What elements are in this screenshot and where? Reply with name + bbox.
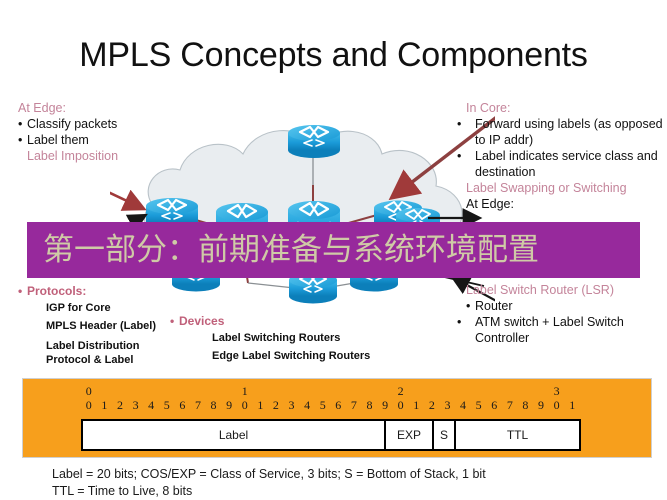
bit-index: 4 [455, 398, 471, 412]
bit-index: 5 [159, 398, 175, 412]
bit-index: 1 [97, 398, 113, 412]
bit-index: 7 [346, 398, 362, 412]
bullet-icon: • [18, 132, 27, 148]
bit-decade [97, 384, 113, 398]
left-edge-notes: At Edge: •Classify packets •Label them L… [18, 100, 198, 164]
field-exp: EXP [386, 421, 434, 449]
bullet-icon: • [466, 116, 475, 132]
bit-decade: 1 [237, 384, 253, 398]
bit-index: 9 [221, 398, 237, 412]
in-core-heading: In Core: [466, 100, 666, 116]
protocols-heading: •Protocols: [18, 283, 208, 299]
section-banner-text: 第一部分：前期准备与系统环境配置 [43, 228, 640, 272]
bit-decade [268, 384, 284, 398]
bit-decade [533, 384, 549, 398]
list-item: •Label them [18, 132, 198, 148]
bit-index: 9 [533, 398, 549, 412]
bit-index: 5 [315, 398, 331, 412]
bit-decade [175, 384, 191, 398]
lsr-notes: Label Switch Router (LSR) •Router •ATM s… [466, 282, 666, 346]
bit-decade [128, 384, 144, 398]
bit-index: 5 [471, 398, 487, 412]
list-item: •Label indicates service class and desti… [466, 148, 666, 180]
in-core-notes: In Core: •Forward using labels (as oppos… [466, 100, 666, 212]
caption-line-2: TTL = Time to Live, 8 bits [52, 483, 652, 500]
bullet-icon: • [18, 116, 27, 132]
bit-decade [206, 384, 222, 398]
bullet-icon: • [466, 148, 475, 164]
bit-decade [315, 384, 331, 398]
bit-ruler: 0123 01234567890123456789012345678901 [81, 384, 581, 412]
bit-decade [362, 384, 378, 398]
at-edge-subheading: At Edge: [466, 196, 666, 212]
list-item: •Forward using labels (as opposed to IP … [466, 116, 666, 148]
bit-decade [112, 384, 128, 398]
bit-index: 2 [112, 398, 128, 412]
bullet-icon: • [466, 298, 475, 314]
bit-index: 0 [393, 398, 409, 412]
label-swapping-note: Label Swapping or Switching [466, 180, 666, 196]
bit-decade [190, 384, 206, 398]
bit-decade [346, 384, 362, 398]
caption-line-1: Label = 20 bits; COS/EXP = Class of Serv… [52, 466, 652, 483]
at-edge-heading: At Edge: [18, 100, 198, 116]
bullet-icon: • [466, 314, 475, 330]
header-caption: Label = 20 bits; COS/EXP = Class of Serv… [52, 466, 652, 500]
bit-index: 1 [564, 398, 580, 412]
bit-index: 3 [128, 398, 144, 412]
arrow-icon [110, 192, 142, 208]
bit-index: 4 [299, 398, 315, 412]
label-imposition-note: Label Imposition [18, 148, 198, 164]
bit-index: 3 [440, 398, 456, 412]
bit-index: 4 [143, 398, 159, 412]
bit-decade [440, 384, 456, 398]
bit-index: 1 [408, 398, 424, 412]
bit-index: 0 [237, 398, 253, 412]
bit-decade [471, 384, 487, 398]
bullet-icon: • [18, 283, 27, 299]
bit-decade [159, 384, 175, 398]
bit-ruler-ones: 01234567890123456789012345678901 [81, 398, 581, 412]
list-item: •ATM switch + Label Switch Controller [466, 314, 666, 346]
bit-index: 7 [502, 398, 518, 412]
field-ttl: TTL [456, 421, 579, 449]
bit-index: 3 [284, 398, 300, 412]
header-field-row: Label EXP S TTL [81, 419, 581, 451]
bit-index: 7 [190, 398, 206, 412]
bit-decade [502, 384, 518, 398]
bit-decade [408, 384, 424, 398]
router-icon [288, 125, 340, 158]
bit-index: 2 [424, 398, 440, 412]
bit-index: 1 [253, 398, 269, 412]
list-item: •Router [466, 298, 666, 314]
bit-index: 8 [362, 398, 378, 412]
bit-decade [331, 384, 347, 398]
bit-decade [221, 384, 237, 398]
bit-decade [253, 384, 269, 398]
bit-decade: 3 [549, 384, 565, 398]
mpls-header-diagram: 0123 01234567890123456789012345678901 La… [22, 378, 652, 458]
bit-decade [377, 384, 393, 398]
bit-decade [143, 384, 159, 398]
bit-index: 8 [518, 398, 534, 412]
bit-decade [564, 384, 580, 398]
bit-index: 9 [377, 398, 393, 412]
list-item: •Classify packets [18, 116, 198, 132]
field-s: S [434, 421, 456, 449]
bit-decade: 0 [81, 384, 97, 398]
bit-ruler-tens: 0123 [81, 384, 581, 398]
bit-decade: 2 [393, 384, 409, 398]
bit-index: 0 [549, 398, 565, 412]
slide-canvas: MPLS Concepts and Components [0, 0, 667, 500]
bit-decade [424, 384, 440, 398]
bit-index: 8 [206, 398, 222, 412]
bit-decade [299, 384, 315, 398]
field-label: Label [83, 421, 386, 449]
section-banner: 第一部分：前期准备与系统环境配置 [27, 222, 640, 278]
bit-index: 6 [175, 398, 191, 412]
bit-decade [455, 384, 471, 398]
list-item: Label Switching Routers [170, 329, 400, 347]
bullet-icon: • [170, 313, 179, 329]
devices-block: •Devices Label Switching Routers Edge La… [170, 313, 400, 365]
page-title: MPLS Concepts and Components [0, 36, 667, 75]
bit-decade [486, 384, 502, 398]
bit-index: 2 [268, 398, 284, 412]
list-item: Edge Label Switching Routers [170, 347, 400, 365]
bit-index: 0 [81, 398, 97, 412]
devices-heading: •Devices [170, 313, 400, 329]
bit-index: 6 [331, 398, 347, 412]
bit-index: 6 [486, 398, 502, 412]
bit-decade [284, 384, 300, 398]
lsr-note: Label Switch Router (LSR) [466, 282, 666, 298]
bit-decade [518, 384, 534, 398]
